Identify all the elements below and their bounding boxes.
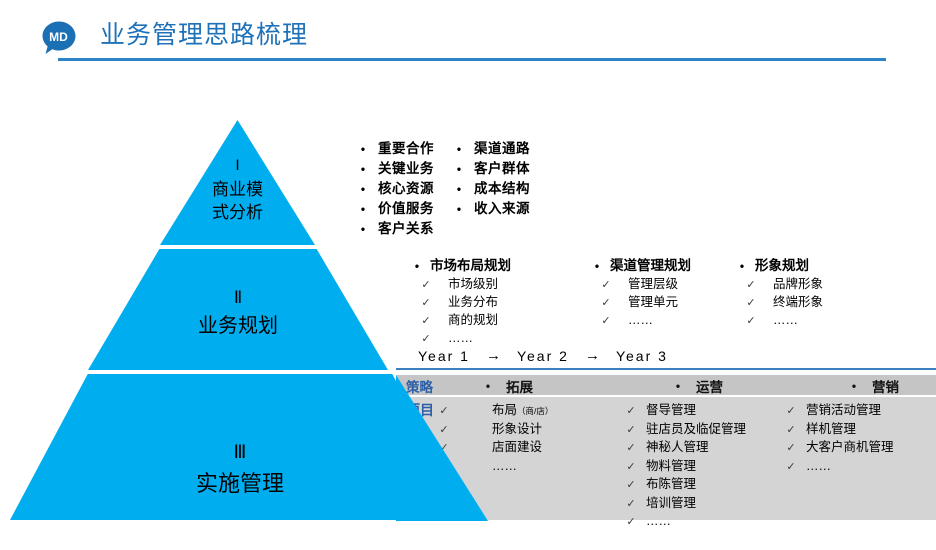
level-3-list-item: ✓督导管理: [616, 402, 776, 421]
check-icon: ✓: [729, 277, 773, 294]
check-icon: ✓: [584, 295, 628, 312]
level-1-bullet-label: 重要合作: [378, 139, 434, 158]
timeline-arrow-2-icon: →: [585, 347, 600, 364]
level-2-list-item-label: 管理单元: [628, 294, 678, 311]
level-2-list-item: ✓终端形象: [729, 294, 879, 312]
bullet-dot-icon: •: [444, 140, 474, 159]
year-1-label: Year 1: [418, 348, 470, 364]
level-2-group-heading-label: 市场布局规划: [430, 256, 511, 276]
level-1-bullet-label: 核心资源: [378, 179, 434, 198]
level-1-bullet-item: •客户群体: [444, 159, 530, 179]
level-1-bullet-item: •重要合作: [348, 139, 434, 159]
check-icon: ✓: [404, 295, 448, 312]
check-icon: ✓: [584, 313, 628, 330]
check-icon: ✓: [396, 403, 492, 421]
level-3-list-item-label: 布陈管理: [646, 476, 696, 494]
check-icon: ✓: [616, 514, 646, 532]
header-divider: [58, 58, 886, 61]
year-2-label: Year 2: [517, 348, 569, 364]
level-1-content: •重要合作•关键业务•核心资源•价值服务•客户关系 •渠道通路•客户群体•成本结…: [348, 139, 530, 239]
check-icon: ✓: [729, 295, 773, 312]
level-3-list-item-label: 培训管理: [646, 495, 696, 513]
check-icon: ✓: [616, 477, 646, 495]
level-3-list-item: ✓样机管理: [776, 421, 936, 440]
bullet-dot-icon: •: [348, 180, 378, 199]
level-3-group-heading: •运营: [660, 376, 836, 396]
level-2-divider: [396, 368, 936, 370]
check-icon: ✓: [729, 313, 773, 330]
bullet-dot-icon: •: [444, 180, 474, 199]
level-2-group: •市场布局规划✓市场级别✓业务分布✓商的规划✓……: [404, 256, 584, 348]
level-2-list-item-label: ……: [448, 330, 473, 347]
level-2-list-item-label: 品牌形象: [773, 276, 823, 293]
level-3-list-item-sublabel: （商/店）: [517, 403, 553, 421]
check-icon: ✓: [776, 459, 806, 477]
level-2-title: 业务规划: [198, 315, 278, 337]
level-3-group-heading-label: 拓展: [506, 376, 533, 396]
level-2-list-item-label: 商的规划: [448, 312, 498, 329]
bullet-dot-icon: •: [444, 160, 474, 179]
check-icon: ✓: [404, 277, 448, 294]
level-2-list-item: ✓市场级别: [404, 276, 584, 294]
level-2-list-item-label: 终端形象: [773, 294, 823, 311]
level-3-list-item: ✓神秘人管理: [616, 439, 776, 458]
level-2-group: •形象规划✓品牌形象✓终端形象✓……: [729, 256, 879, 348]
check-icon: ✓: [616, 422, 646, 440]
level-2-list-item-label: 业务分布: [448, 294, 498, 311]
bullet-dot-icon: •: [660, 379, 696, 393]
level-3-group-column: ✓督导管理✓驻店员及临促管理✓神秘人管理✓物料管理✓布陈管理✓培训管理✓……: [616, 402, 776, 532]
level-2-group-heading-label: 形象规划: [755, 256, 809, 276]
level-3-strategy-label: 策略: [396, 376, 470, 396]
bullet-dot-icon: •: [348, 160, 378, 179]
level-1-bullet-label: 渠道通路: [474, 139, 530, 158]
level-1-bullet-label: 客户关系: [378, 219, 434, 238]
level-3-group-heading: •拓展: [470, 376, 660, 396]
level-3-list-item-label: 店面建设: [492, 439, 542, 457]
level-2-list-item-label: ……: [773, 312, 798, 329]
level-2-content: •市场布局规划✓市场级别✓业务分布✓商的规划✓……•渠道管理规划✓管理层级✓管理…: [404, 256, 879, 348]
level-3-list-item: ✓……: [776, 458, 936, 477]
check-icon: ✓: [396, 459, 492, 477]
level-3-list-item: ✓布陈管理: [616, 476, 776, 495]
level-1-bullet-item: •关键业务: [348, 159, 434, 179]
pyramid-level-2-label: Ⅱ 业务规划: [88, 283, 388, 341]
bullet-dot-icon: •: [470, 379, 506, 393]
check-icon: ✓: [584, 277, 628, 294]
level-3-list-item: ✓大客户商机管理: [776, 439, 936, 458]
pyramid-level-1-label: Ⅰ 商业模 式分析: [160, 155, 315, 224]
level-1-bullet-label: 成本结构: [474, 179, 530, 198]
bullet-dot-icon: •: [584, 256, 610, 276]
level-1-title-line1: 商业模: [212, 180, 263, 199]
level-3-group-column: ✓布局（商/店）✓形象设计✓店面建设✓……: [396, 402, 616, 532]
check-icon: ✓: [396, 440, 492, 458]
level-2-list-item: ✓业务分布: [404, 294, 584, 312]
level-3-list-item-label: 形象设计: [492, 421, 542, 439]
level-3-group-column: ✓营销活动管理✓样机管理✓大客户商机管理✓……: [776, 402, 936, 532]
check-icon: ✓: [404, 313, 448, 330]
level-3-list-item-label: 督导管理: [646, 402, 696, 420]
level-3-list-item-label: ……: [806, 458, 831, 476]
level-2-group: •渠道管理规划✓管理层级✓管理单元✓……: [584, 256, 729, 348]
slide-canvas: MD 业务管理思路梳理 Ⅰ 商业模 式分析 Ⅱ 业务规划 Ⅲ 实施管理 •重要合…: [0, 0, 936, 550]
level-3-list-item: ✓……: [616, 513, 776, 532]
level-2-list-item-label: ……: [628, 312, 653, 329]
level-3-list-item: ✓布局（商/店）: [396, 402, 616, 421]
level-3-list-item: ✓驻店员及临促管理: [616, 421, 776, 440]
level-3-list-item-label: 样机管理: [806, 421, 856, 439]
level-2-list-item-label: 管理层级: [628, 276, 678, 293]
check-icon: ✓: [776, 422, 806, 440]
level-1-bullet-label: 关键业务: [378, 159, 434, 178]
level-3-list-item-label: ……: [646, 513, 671, 531]
level-3-list-item: ✓……: [396, 458, 616, 477]
year-3-label: Year 3: [616, 348, 668, 364]
level-2-group-heading: •形象规划: [729, 256, 879, 276]
level-2-group-heading: •市场布局规划: [404, 256, 584, 276]
level-3-list-item-label: 布局: [492, 402, 517, 420]
level-1-bullet-column-a: •重要合作•关键业务•核心资源•价值服务•客户关系: [348, 139, 434, 239]
bullet-dot-icon: •: [836, 379, 872, 393]
check-icon: ✓: [616, 459, 646, 477]
svg-text:MD: MD: [49, 30, 68, 44]
level-3-list-item: ✓形象设计: [396, 421, 616, 440]
bullet-dot-icon: •: [444, 200, 474, 219]
level-2-group-heading: •渠道管理规划: [584, 256, 729, 276]
bullet-dot-icon: •: [404, 256, 430, 276]
level-3-list-item: ✓培训管理: [616, 495, 776, 514]
level-2-numeral: Ⅱ: [88, 283, 388, 312]
level-2-list-item-label: 市场级别: [448, 276, 498, 293]
check-icon: ✓: [776, 403, 806, 421]
level-1-bullet-item: •渠道通路: [444, 139, 530, 159]
level-2-list-item: ✓……: [584, 312, 729, 330]
level-1-bullet-label: 客户群体: [474, 159, 530, 178]
bullet-dot-icon: •: [348, 140, 378, 159]
level-1-title-line2: 式分析: [212, 203, 263, 222]
level-3-list-item-label: 营销活动管理: [806, 402, 881, 420]
level-2-list-item: ✓品牌形象: [729, 276, 879, 294]
timeline-arrow-1-icon: →: [486, 347, 501, 364]
level-3-list-item: ✓营销活动管理: [776, 402, 936, 421]
level-3-group-heading-label: 营销: [872, 376, 899, 396]
year-timeline: Year 1 → Year 2 → Year 3: [418, 347, 668, 364]
level-3-list-item-label: 大客户商机管理: [806, 439, 894, 457]
level-1-numeral: Ⅰ: [160, 155, 315, 178]
level-3-list-item-label: 驻店员及临促管理: [646, 421, 746, 439]
bullet-dot-icon: •: [348, 200, 378, 219]
level-3-list-item-label: 神秘人管理: [646, 439, 709, 457]
level-1-bullet-item: •收入来源: [444, 199, 530, 219]
level-3-list-item-label: 物料管理: [646, 458, 696, 476]
level-2-list-item: ✓……: [404, 330, 584, 348]
level-3-group-heading: •营销: [836, 376, 899, 396]
level-3-list-item-label: ……: [492, 458, 517, 476]
check-icon: ✓: [616, 440, 646, 458]
level-1-bullet-column-b: •渠道通路•客户群体•成本结构•收入来源: [444, 139, 530, 239]
check-icon: ✓: [396, 422, 492, 440]
bullet-dot-icon: •: [348, 220, 378, 239]
md-speech-bubble-logo: MD: [42, 20, 78, 56]
level-1-bullet-label: 价值服务: [378, 199, 434, 218]
level-1-bullet-item: •价值服务: [348, 199, 434, 219]
bullet-dot-icon: •: [729, 256, 755, 276]
page-title: 业务管理思路梳理: [100, 18, 308, 52]
level-2-list-item: ✓管理单元: [584, 294, 729, 312]
level-2-list-item: ✓……: [729, 312, 879, 330]
level-1-bullet-item: •客户关系: [348, 219, 434, 239]
level-1-bullet-item: •核心资源: [348, 179, 434, 199]
level-2-group-heading-label: 渠道管理规划: [610, 256, 691, 276]
level-2-list-item: ✓商的规划: [404, 312, 584, 330]
level-1-bullet-label: 收入来源: [474, 199, 530, 218]
level-3-list-item: ✓店面建设: [396, 439, 616, 458]
level-1-bullet-item: •成本结构: [444, 179, 530, 199]
level-3-list-item: ✓物料管理: [616, 458, 776, 477]
check-icon: ✓: [404, 331, 448, 348]
check-icon: ✓: [616, 496, 646, 514]
level-3-columns: ✓布局（商/店）✓形象设计✓店面建设✓……✓督导管理✓驻店员及临促管理✓神秘人管…: [396, 402, 936, 532]
check-icon: ✓: [776, 440, 806, 458]
level-3-title: 实施管理: [196, 471, 284, 496]
level-3-group-heading-label: 运营: [696, 376, 723, 396]
level-3-header-row: 策略•拓展•运营•营销: [396, 376, 936, 396]
check-icon: ✓: [616, 403, 646, 421]
level-2-list-item: ✓管理层级: [584, 276, 729, 294]
